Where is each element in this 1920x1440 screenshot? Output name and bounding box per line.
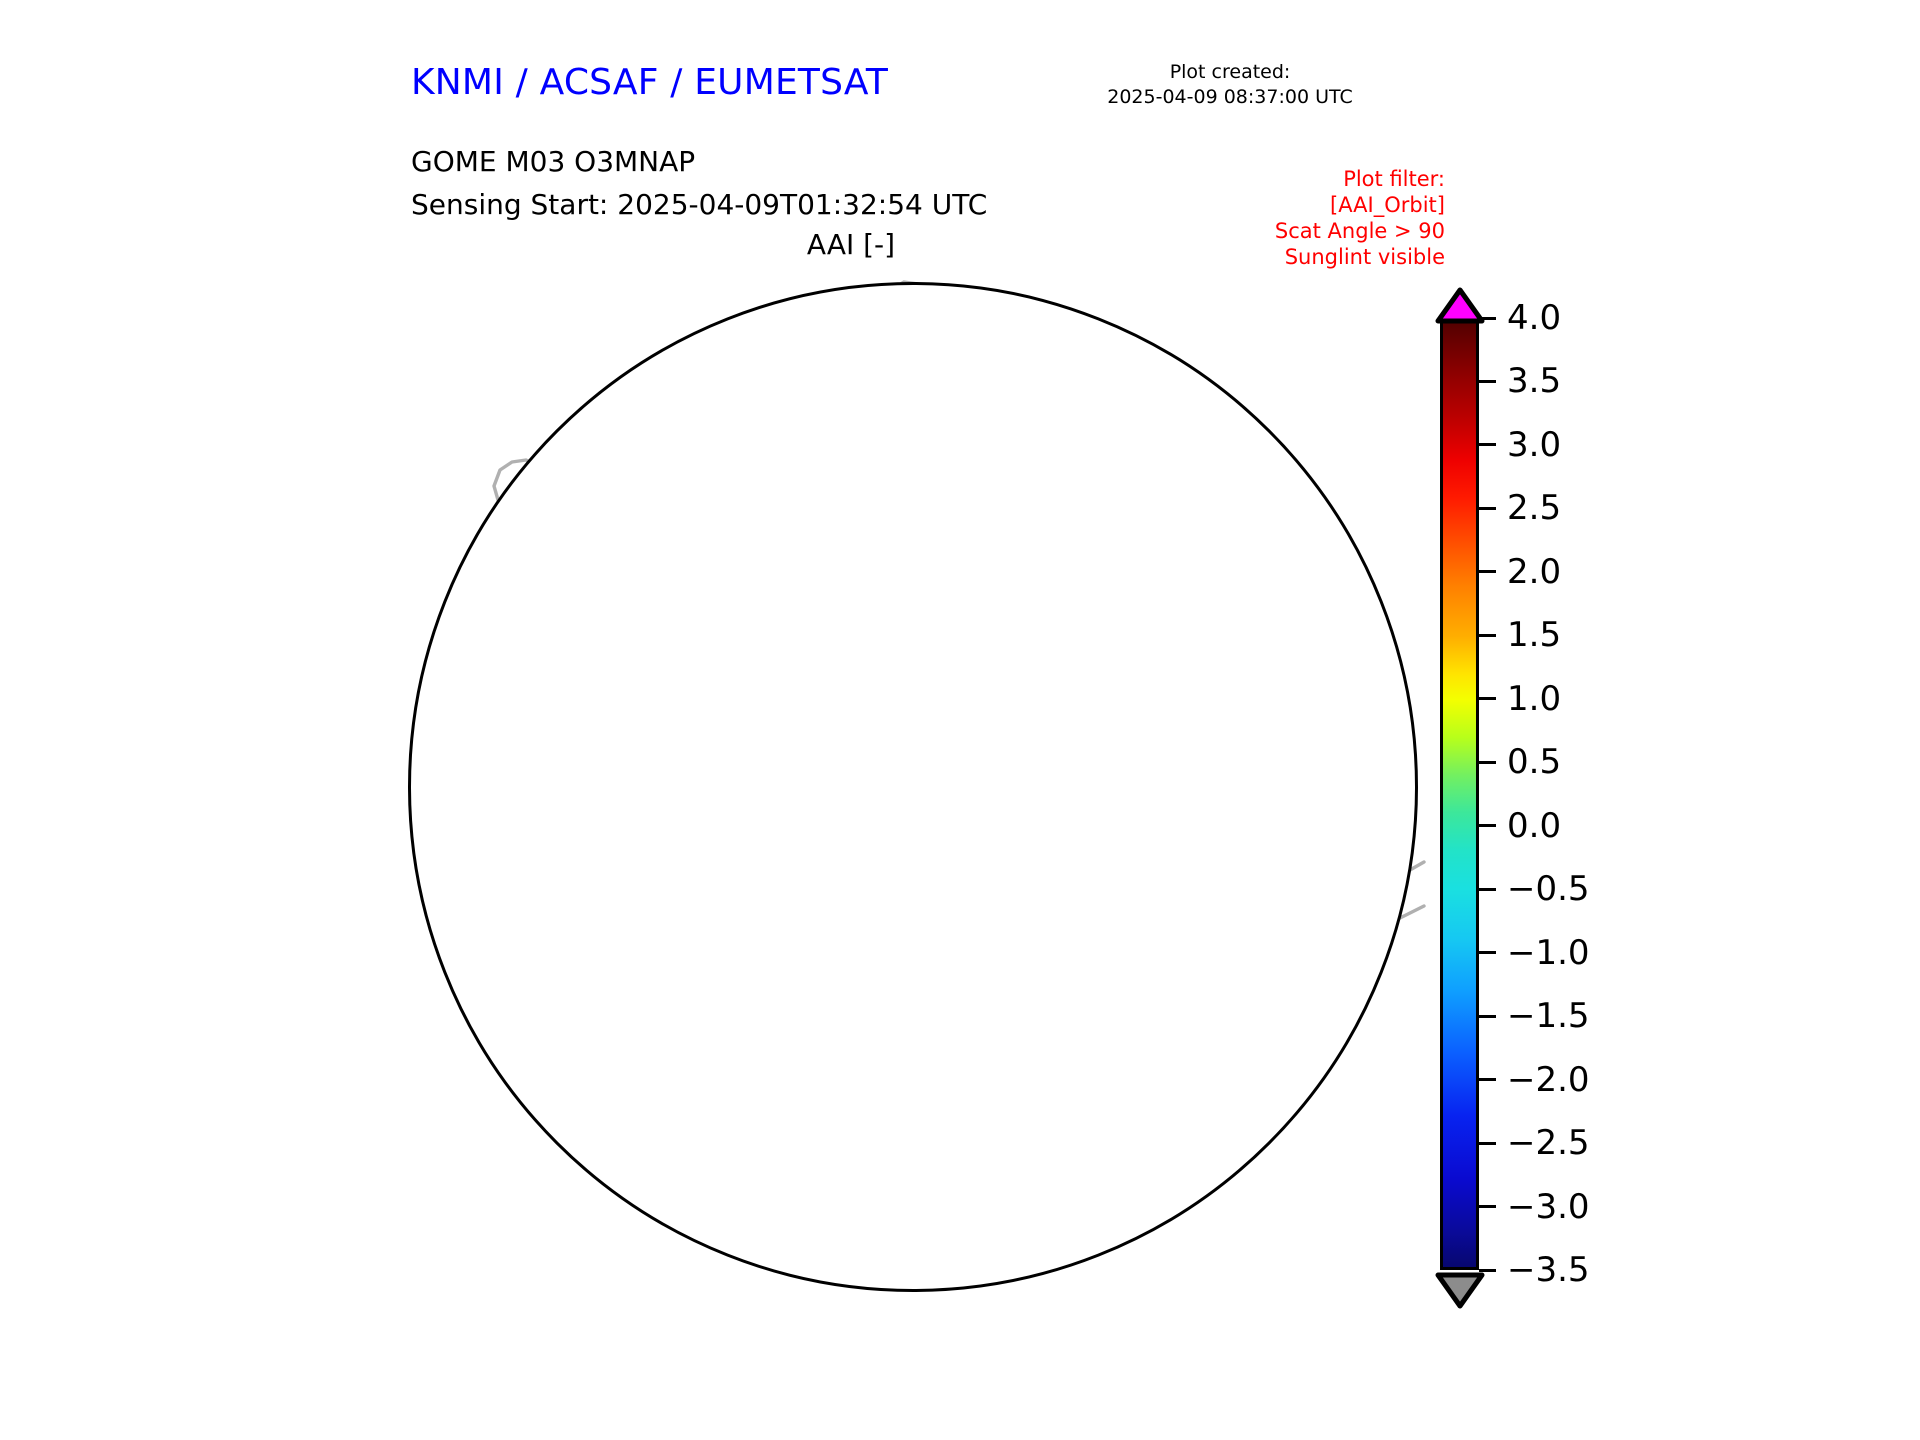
colorbar-extend-arrows: [1435, 284, 1495, 1314]
plot-filter-block: Plot filter: [AAI_Orbit] Scat Angle > 90…: [1110, 166, 1445, 270]
product-info-block: GOME M03 O3MNAP Sensing Start: 2025-04-0…: [411, 140, 987, 226]
colorbar-tick-label: −2.5: [1507, 1126, 1590, 1160]
colorbar-tick-label: −3.5: [1507, 1253, 1590, 1287]
product-name: GOME M03 O3MNAP: [411, 140, 987, 183]
plot-filter-name: [AAI_Orbit]: [1110, 192, 1445, 218]
colorbar-tick: [1479, 951, 1496, 954]
colorbar-tick: [1479, 317, 1496, 320]
plot-created-block: Plot created: 2025-04-09 08:37:00 UTC: [1020, 60, 1440, 110]
colorbar-tick: [1479, 1269, 1496, 1272]
colorbar-tick-label: 3.5: [1507, 364, 1561, 398]
colorbar-tick-label: −2.0: [1507, 1063, 1590, 1097]
globe-outline: [408, 282, 1418, 1292]
colorbar-tick: [1479, 697, 1496, 700]
colorbar-tick-label: −0.5: [1507, 872, 1590, 906]
colorbar-tick: [1479, 824, 1496, 827]
colorbar: 4.03.53.02.52.01.51.00.50.0−0.5−1.0−1.5−…: [1437, 288, 1857, 1328]
colorbar-tick-label: −1.5: [1507, 999, 1590, 1033]
colorbar-tick-label: −3.0: [1507, 1190, 1590, 1224]
colorbar-tick-label: 0.5: [1507, 745, 1561, 779]
map-panel: [408, 282, 1424, 1298]
colorbar-tick: [1479, 570, 1496, 573]
colorbar-tick: [1479, 634, 1496, 637]
colorbar-tick-label: 4.0: [1507, 301, 1561, 335]
colorbar-tick-label: 2.5: [1507, 491, 1561, 525]
colorbar-tick: [1479, 1205, 1496, 1208]
colorbar-over-arrow: [1438, 290, 1482, 321]
colorbar-tick-label: 1.5: [1507, 618, 1561, 652]
colorbar-tick: [1479, 1078, 1496, 1081]
colorbar-tick-label: −1.0: [1507, 936, 1590, 970]
colorbar-tick-label: 2.0: [1507, 555, 1561, 589]
plot-created-label: Plot created:: [1020, 60, 1440, 85]
colorbar-tick: [1479, 443, 1496, 446]
colorbar-tick: [1479, 507, 1496, 510]
plot-filter-condition: Scat Angle > 90: [1110, 218, 1445, 244]
colorbar-tick: [1479, 1015, 1496, 1018]
colorbar-tick: [1479, 888, 1496, 891]
colorbar-tick-label: 0.0: [1507, 809, 1561, 843]
plot-filter-label: Plot filter:: [1110, 166, 1445, 192]
colorbar-tick-label: 3.0: [1507, 428, 1561, 462]
sensing-start: Sensing Start: 2025-04-09T01:32:54 UTC: [411, 183, 987, 226]
plot-filter-note: Sunglint visible: [1110, 244, 1445, 270]
org-title: KNMI / ACSAF / EUMETSAT: [411, 62, 888, 103]
colorbar-tick-label: 1.0: [1507, 682, 1561, 716]
colorbar-tick: [1479, 380, 1496, 383]
colorbar-tick: [1479, 761, 1496, 764]
colorbar-tick: [1479, 1142, 1496, 1145]
colorbar-under-arrow: [1438, 1275, 1482, 1306]
plot-created-timestamp: 2025-04-09 08:37:00 UTC: [1020, 85, 1440, 110]
